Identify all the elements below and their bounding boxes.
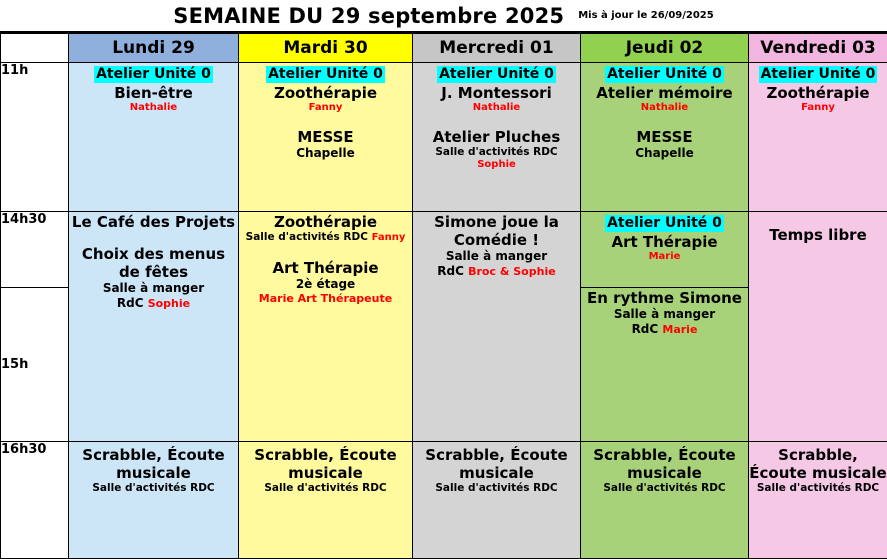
activity-location-detail: RdC Marie [581,322,748,337]
cell-mercredi-apresmidi[interactable]: Simone joue la Comédie ! Salle à manger … [413,212,581,442]
activity-block: Simone joue la Comédie ! Salle à manger … [413,213,580,279]
activity-person: Nathalie [581,102,748,115]
cell-jeudi-16h30[interactable]: Scrabble, Écoute musicale Salle d'activi… [581,442,749,559]
activity-block: Atelier Unité 0 Zoothérapie Fanny [749,63,887,114]
activity-title: Scrabble, Écoute musicale [413,446,580,482]
cell-lundi-16h30[interactable]: Scrabble, Écoute musicale Salle d'activi… [69,442,239,559]
activity-title: En rythme Simone [581,289,748,307]
activity-location-detail: RdC Broc & Sophie [413,264,580,279]
time-label-15h: 15h [1,288,69,442]
page-title-bar: SEMAINE DU 29 septembre 2025 Mis à jour … [0,0,887,33]
activity-block: Scrabble, Écoute musicale Salle d'activi… [413,446,580,495]
activity-block: Atelier Unité 0 Art Thérapie Marie [581,212,748,263]
activity-title: Scrabble, Écoute musicale [69,446,238,482]
activity-title: Le Café des Projets [69,213,238,231]
activity-block: Temps libre [749,226,887,244]
cell-jeudi-14h30[interactable]: Atelier Unité 0 Art Thérapie Marie [581,212,749,288]
unit-tag: Atelier Unité 0 [266,66,385,83]
activity-location: Salle à manger [581,307,748,322]
unit-tag: Atelier Unité 0 [759,66,878,83]
activity-location: Salle d'activités RDC [239,482,412,495]
weekly-schedule-page: SEMAINE DU 29 septembre 2025 Mis à jour … [0,0,887,559]
column-header-lundi: Lundi 29 [69,34,239,63]
activity-title: J. Montessori [413,84,580,102]
activity-title: Zoothérapie [749,84,887,102]
unit-tag: Atelier Unité 0 [94,66,213,83]
time-label-15h-text: 15h [1,357,28,372]
activity-block: Zoothérapie Salle d'activités RDC Fanny [239,213,412,245]
activity-block: Atelier Unité 0 Atelier mémoire Nathalie [581,63,748,114]
activity-location-detail: Salle d'activités RDC Fanny [239,231,412,245]
activity-block: MESSE Chapelle [581,128,748,161]
column-header-mardi: Mardi 30 [239,34,413,63]
activity-title: Scrabble, Écoute musicale [239,446,412,482]
unit-tag: Atelier Unité 0 [605,215,724,232]
activity-block: Atelier Unité 0 J. Montessori Nathalie [413,63,580,114]
activity-person: Broc & Sophie [468,265,556,278]
last-updated-label: Mis à jour le 26/09/2025 [578,10,714,21]
location-floor: RdC [632,322,659,336]
schedule-row-16h30: 16h30 Scrabble, Écoute musicale Salle d'… [1,442,887,559]
cell-mardi-16h30[interactable]: Scrabble, Écoute musicale Salle d'activi… [239,442,413,559]
cell-mardi-apresmidi[interactable]: Zoothérapie Salle d'activités RDC Fanny … [239,212,413,442]
activity-block: Scrabble, Écoute musicale Salle d'activi… [69,446,238,495]
activity-title: Temps libre [749,226,887,244]
cell-lundi-apresmidi[interactable]: Le Café des Projets Choix des menus de f… [69,212,239,442]
activity-title: Atelier Pluches [413,128,580,146]
table-header-row: Lundi 29 Mardi 30 Mercredi 01 Jeudi 02 V… [1,34,887,63]
column-header-vendredi: Vendredi 03 [749,34,887,63]
activity-location: Salle d'activités RDC [581,482,748,495]
schedule-table: Lundi 29 Mardi 30 Mercredi 01 Jeudi 02 V… [0,33,887,559]
cell-vendredi-11h[interactable]: Atelier Unité 0 Zoothérapie Fanny [749,63,887,212]
location-floor: RdC [437,264,464,278]
activity-block: Le Café des Projets [69,213,238,231]
activity-person: Nathalie [69,102,238,115]
activity-person: Fanny [239,102,412,115]
corner-blank-cell [1,34,69,63]
activity-block: Scrabble, Écoute musicale Salle d'activi… [239,446,412,495]
activity-block: Atelier Pluches Salle d'activités RDC So… [413,128,580,172]
activity-location: Chapelle [239,146,412,161]
activity-location: Salle d'activités RDC [246,231,368,243]
cell-vendredi-16h30[interactable]: Scrabble, Écoute musicale Salle d'activi… [749,442,887,559]
activity-title: Zoothérapie [239,84,412,102]
activity-title: Atelier mémoire [581,84,748,102]
schedule-row-11h: 11h Atelier Unité 0 Bien-être Nathalie A… [1,63,887,212]
activity-location: Salle d'activités RDC [749,482,887,495]
activity-location: Salle d'activités RDC [413,146,580,159]
location-floor: RdC [117,296,144,310]
activity-title: Scrabble, Écoute musicale [581,446,748,482]
activity-location: Salle à manger [413,249,580,264]
cell-mercredi-16h30[interactable]: Scrabble, Écoute musicale Salle d'activi… [413,442,581,559]
time-label-14h30: 14h30 [1,212,69,288]
activity-title: MESSE [581,128,748,146]
activity-location: Salle d'activités RDC [69,482,238,495]
cell-jeudi-15h[interactable]: En rythme Simone Salle à manger RdC Mari… [581,288,749,442]
activity-person: Sophie [148,297,190,310]
cell-vendredi-apresmidi[interactable]: Temps libre [749,212,887,442]
activity-title: Art Thérapie [239,259,412,277]
activity-title: Art Thérapie [581,233,748,251]
column-header-jeudi: Jeudi 02 [581,34,749,63]
activity-title: Choix des menus de fêtes [69,245,238,281]
activity-block: Atelier Unité 0 Zoothérapie Fanny [239,63,412,114]
time-label-11h: 11h [1,63,69,212]
cell-lundi-11h[interactable]: Atelier Unité 0 Bien-être Nathalie [69,63,239,212]
activity-location: 2è étage [239,277,412,292]
activity-block: Atelier Unité 0 Bien-être Nathalie [69,63,238,114]
activity-person: Marie [662,323,697,336]
activity-block: Art Thérapie 2è étage Marie Art Thérapeu… [239,259,412,306]
activity-location: Chapelle [581,146,748,161]
activity-person: Marie Art Thérapeute [239,292,412,306]
activity-person: Marie [581,251,748,264]
activity-location: Salle d'activités RDC [413,482,580,495]
activity-title: MESSE [239,128,412,146]
activity-location-detail: RdC Sophie [69,296,238,311]
column-header-mercredi: Mercredi 01 [413,34,581,63]
activity-title: Simone joue la Comédie ! [413,213,580,249]
activity-person: Sophie [413,159,580,172]
activity-location: Salle à manger [69,281,238,296]
activity-block: Choix des menus de fêtes Salle à manger … [69,245,238,311]
cell-jeudi-11h[interactable]: Atelier Unité 0 Atelier mémoire Nathalie… [581,63,749,212]
activity-person: Fanny [372,232,406,243]
activity-block: MESSE Chapelle [239,128,412,161]
activity-person: Nathalie [413,102,580,115]
schedule-row-14h30: 14h30 Le Café des Projets Choix des menu… [1,212,887,288]
activity-title: Bien-être [69,84,238,102]
cell-mercredi-11h[interactable]: Atelier Unité 0 J. Montessori Nathalie A… [413,63,581,212]
time-label-16h30: 16h30 [1,442,69,559]
activity-block: Scrabble, Écoute musicale Salle d'activi… [581,446,748,495]
unit-tag: Atelier Unité 0 [605,66,724,83]
cell-mardi-11h[interactable]: Atelier Unité 0 Zoothérapie Fanny MESSE … [239,63,413,212]
activity-block: En rythme Simone Salle à manger RdC Mari… [581,289,748,337]
page-title: SEMAINE DU 29 septembre 2025 [173,4,564,28]
activity-title: Zoothérapie [239,213,412,231]
unit-tag: Atelier Unité 0 [437,66,556,83]
activity-person: Fanny [749,102,887,115]
activity-block: Scrabble, Écoute musicale Salle d'activi… [749,446,887,495]
activity-title: Scrabble, Écoute musicale [749,446,887,482]
